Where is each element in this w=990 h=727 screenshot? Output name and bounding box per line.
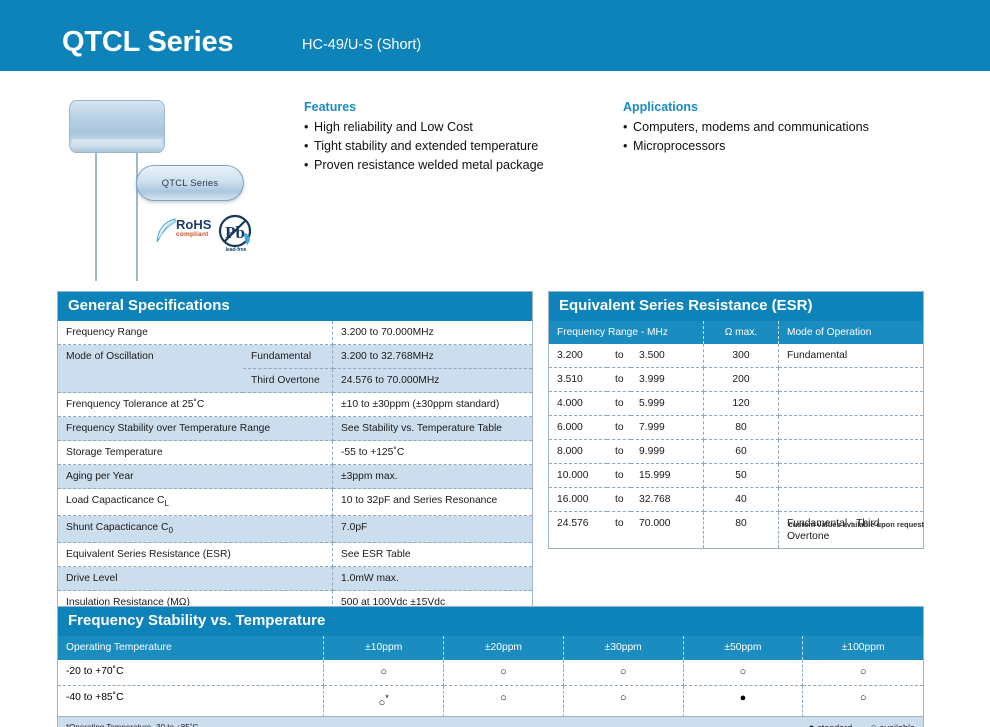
esr-from: 3.510 [549,368,607,392]
spec-label: Aging per Year [58,465,333,489]
product-illustration: QTCL Series RoHS compliant Pb lead-free [56,96,291,286]
esr-mode [779,368,923,392]
standard-icon [808,722,815,727]
column-header-100ppm: ±100ppm [803,636,923,660]
feature-text: Tight stability and extended temperature [314,139,538,153]
column-header-frequency: Frequency Range - MHz [549,321,704,344]
spec-label: Shunt Capacticance C0 [58,516,333,543]
esr-from: 10.000 [549,464,607,488]
table-row: 8.000 to 9.999 60 [549,440,923,464]
available-starred-icon [379,697,389,709]
table-row: 3.200 to 3.500 300 Fundamental [549,344,923,368]
esr-from: 16.000 [549,488,607,512]
esr-to-label: to [607,464,631,488]
legend-standard: standard [808,721,852,727]
stability-mark [444,686,564,717]
esr-to-label: to [607,344,631,368]
table-row: 16.000 to 32.768 40 [549,488,923,512]
legend-available: available [870,721,915,727]
spec-value: -55 to +125˚C [333,441,532,465]
spec-label: Drive Level [58,567,333,591]
esr-from: 6.000 [549,416,607,440]
stability-mark [803,686,923,717]
table-row: Drive Level 1.0mW max. [58,567,532,591]
column-header-50ppm: ±50ppm [684,636,804,660]
spec-label: Equivalent Series Resistance (ESR) [58,543,333,567]
esr-until: 5.999 [631,392,704,416]
esr-ohm: 80 [704,512,779,548]
esr-ohm: 50 [704,464,779,488]
esr-from: 8.000 [549,440,607,464]
table-row: Load Capacticance CL 10 to 32pF and Seri… [58,489,532,516]
spec-submodes: Fundamental 3.200 to 32.768MHz Third Ove… [243,345,532,393]
stability-mark [684,660,804,686]
table-row: Aging per Year ±3ppm max. [58,465,532,489]
available-icon [500,692,507,704]
frequency-stability-table: Frequency Stability vs. Temperature Oper… [57,606,924,727]
column-header-20ppm: ±20ppm [444,636,564,660]
column-header-10ppm: ±10ppm [324,636,444,660]
esr-mode: Fundamental - Third Overtone [779,512,923,548]
stability-mark [564,660,684,686]
esr-table: Equivalent Series Resistance (ESR) Frequ… [548,291,924,549]
table-row: Equivalent Series Resistance (ESR) See E… [58,543,532,567]
spec-value: 7.0pF [333,516,532,543]
table-row: 6.000 to 7.999 80 [549,416,923,440]
crystal-lead-left [95,153,97,281]
table-row: 3.510 to 3.999 200 [549,368,923,392]
spec-label-merged: Mode of Oscillation [58,345,243,393]
esr-from: 24.576 [549,512,607,548]
table-row: -20 to +70˚C [58,660,923,686]
rohs-text: RoHS compliant [176,218,211,239]
applications-heading: Applications [623,100,953,114]
esr-to-label: to [607,416,631,440]
table-row: Mode of Oscillation Fundamental 3.200 to… [58,345,532,393]
features-list: •High reliability and Low Cost •Tight st… [304,118,604,175]
spec-label: Storage Temperature [58,441,333,465]
esr-mode [779,440,923,464]
available-icon [870,722,877,727]
table-row: -40 to +85˚C [58,686,923,717]
esr-until: 3.999 [631,368,704,392]
esr-mode: Fundamental [779,344,923,368]
esr-mode [779,392,923,416]
spec-value: 3.200 to 70.000MHz [333,321,532,345]
spec-label: Frenquency Tolerance at 25˚C [58,393,333,417]
features-block: Features •High reliability and Low Cost … [304,100,604,175]
table-row: Frenquency Tolerance at 25˚C ±10 to ±30p… [58,393,532,417]
spec-value: 24.576 to 70.000MHz [333,369,532,393]
list-item: •High reliability and Low Cost [304,118,604,137]
available-icon [380,666,387,678]
features-heading: Features [304,100,604,114]
esr-mode [779,488,923,512]
esr-ohm: 300 [704,344,779,368]
leaf-icon [156,218,178,244]
spec-value: 3.200 to 32.768MHz [333,345,532,369]
esr-to-label: to [607,440,631,464]
table-row: Third Overtone 24.576 to 70.000MHz [243,369,532,393]
spec-value: 1.0mW max. [333,567,532,591]
applications-block: Applications •Computers, modems and comm… [623,100,953,156]
esr-mode [779,416,923,440]
esr-from: 3.200 [549,344,607,368]
table-row: Frequency Stability over Temperature Ran… [58,417,532,441]
esr-note: custom values available upon request [548,520,924,529]
table-row: Shunt Capacticance C0 7.0pF [58,516,532,543]
table-row: Frequency Range 3.200 to 70.000MHz [58,321,532,345]
spec-label: Frequency Stability over Temperature Ran… [58,417,333,441]
spec-value: ±3ppm max. [333,465,532,489]
column-header-operating-temperature: Operating Temperature [58,636,324,660]
table-row: 4.000 to 5.999 120 [549,392,923,416]
crystal-can-graphic [69,100,165,153]
esr-mode [779,464,923,488]
list-item: •Computers, modems and communications [623,118,953,137]
esr-to-label: to [607,488,631,512]
general-specifications-title: General Specifications [58,292,532,321]
series-badge-label: QTCL Series [162,178,219,189]
column-header-mode: Mode of Operation [779,321,923,344]
esr-ohm: 120 [704,392,779,416]
stability-footnote: *Operating Temperature -30 to +85˚C [66,723,198,727]
stability-mark [684,686,804,717]
spec-label: Mode of Oscillation [58,345,161,368]
esr-until: 7.999 [631,416,704,440]
stability-header-row: Operating Temperature ±10ppm ±20ppm ±30p… [58,636,923,660]
stability-mark [324,660,444,686]
esr-until: 3.500 [631,344,704,368]
esr-ohm: 40 [704,488,779,512]
stability-mark [324,686,444,717]
esr-to-label: to [607,512,631,548]
spec-value: ±10 to ±30ppm (±30ppm standard) [333,393,532,417]
feature-text: High reliability and Low Cost [314,120,473,134]
rohs-compliant-label: compliant [176,231,211,239]
spec-value: 10 to 32pF and Series Resonance [333,489,532,516]
esr-header-row: Frequency Range - MHz Ω max. Mode of Ope… [549,321,923,344]
series-badge: QTCL Series [136,165,244,201]
table-row: Storage Temperature -55 to +125˚C [58,441,532,465]
standard-icon [740,692,747,704]
stability-mark [564,686,684,717]
stability-mark [803,660,923,686]
list-item: •Tight stability and extended temperatur… [304,137,604,156]
general-specifications-table: General Specifications Frequency Range 3… [57,291,533,615]
available-icon [860,692,867,704]
header-band: QTCL Series HC-49/U-S (Short) [0,0,990,71]
list-item: •Microprocessors [623,137,953,156]
esr-ohm: 60 [704,440,779,464]
spec-label: Load Capacticance CL [58,489,333,516]
spec-mode: Third Overtone [243,369,333,393]
operating-temperature: -20 to +70˚C [58,660,324,686]
application-text: Microprocessors [633,139,725,153]
esr-until: 32.768 [631,488,704,512]
esr-title: Equivalent Series Resistance (ESR) [549,292,923,321]
operating-temperature: -40 to +85˚C [58,686,324,717]
table-row: 10.000 to 15.999 50 [549,464,923,488]
esr-to-label: to [607,392,631,416]
datasheet-page: QTCL Series HC-49/U-S (Short) QTCL Serie… [0,0,990,727]
table-row: Fundamental 3.200 to 32.768MHz [243,345,532,369]
esr-ohm: 200 [704,368,779,392]
lead-free-caption: lead-free [217,247,255,253]
spec-value: See Stability vs. Temperature Table [333,417,532,441]
table-row: 24.576 to 70.000 80 Fundamental - Third … [549,512,923,548]
esr-until: 9.999 [631,440,704,464]
available-icon [500,666,507,678]
esr-to-label: to [607,368,631,392]
rohs-logo: RoHS compliant Pb lead-free [156,214,256,256]
available-icon [740,666,747,678]
rohs-label: RoHS [176,218,211,231]
crystal-lead-right [136,153,138,281]
stability-mark [444,660,564,686]
column-header-ohm: Ω max. [704,321,779,344]
page-subtitle: HC-49/U-S (Short) [302,37,421,53]
esr-from: 4.000 [549,392,607,416]
application-text: Computers, modems and communications [633,120,869,134]
page-title: QTCL Series [62,26,233,59]
column-header-30ppm: ±30ppm [564,636,684,660]
stability-legend: standard available [808,721,915,727]
esr-ohm: 80 [704,416,779,440]
applications-list: •Computers, modems and communications •M… [623,118,953,156]
spec-label: Frequency Range [58,321,333,345]
available-icon [860,666,867,678]
stability-footer: *Operating Temperature -30 to +85˚C stan… [58,717,923,727]
frequency-stability-title: Frequency Stability vs. Temperature [58,607,923,636]
esr-until: 15.999 [631,464,704,488]
spec-value: See ESR Table [333,543,532,567]
available-icon [620,666,627,678]
spec-mode: Fundamental [243,345,333,369]
esr-until: 70.000 [631,512,704,548]
available-icon [620,692,627,704]
list-item: •Proven resistance welded metal package [304,156,604,175]
feature-text: Proven resistance welded metal package [314,158,544,172]
